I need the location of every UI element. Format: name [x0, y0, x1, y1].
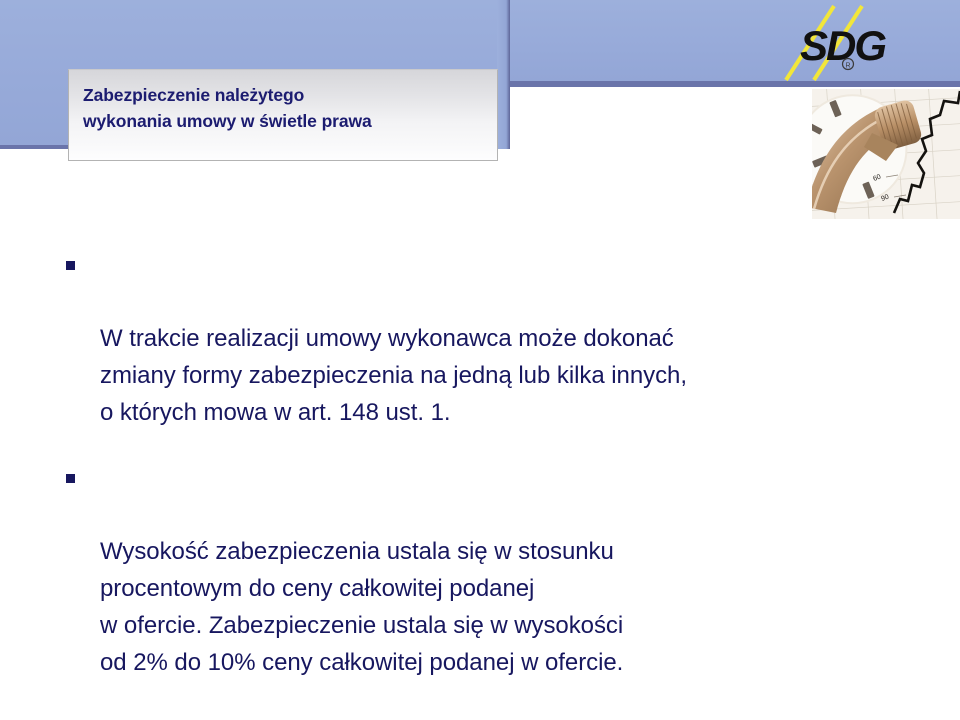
bullet-square-icon — [66, 261, 75, 270]
bullet-text: W trakcie realizacji umowy wykonawca moż… — [100, 325, 687, 426]
watch-on-chart-photo: 60 90 — [812, 89, 960, 219]
slide-title-plate: Zabezpieczenie należytego wykonania umow… — [68, 69, 498, 161]
slide-title: Zabezpieczenie należytego wykonania umow… — [83, 82, 483, 134]
bullet-text: Wysokość zabezpieczenia ustala się w sto… — [100, 538, 623, 676]
svg-text:R: R — [845, 63, 850, 70]
header-band-connector-tab — [497, 0, 510, 149]
bullet-item: W trakcie realizacji umowy wykonawca moż… — [62, 246, 922, 431]
bullet-item: Wysokość zabezpieczenia ustala się w sto… — [62, 459, 922, 681]
presentation-slide: SDG R Zabezpieczenie należytego wykonani… — [0, 0, 960, 720]
bullet-square-icon — [66, 474, 75, 483]
sdg-logo: SDG R — [778, 4, 906, 84]
slide-body: W trakcie realizacji umowy wykonawca moż… — [62, 246, 922, 681]
